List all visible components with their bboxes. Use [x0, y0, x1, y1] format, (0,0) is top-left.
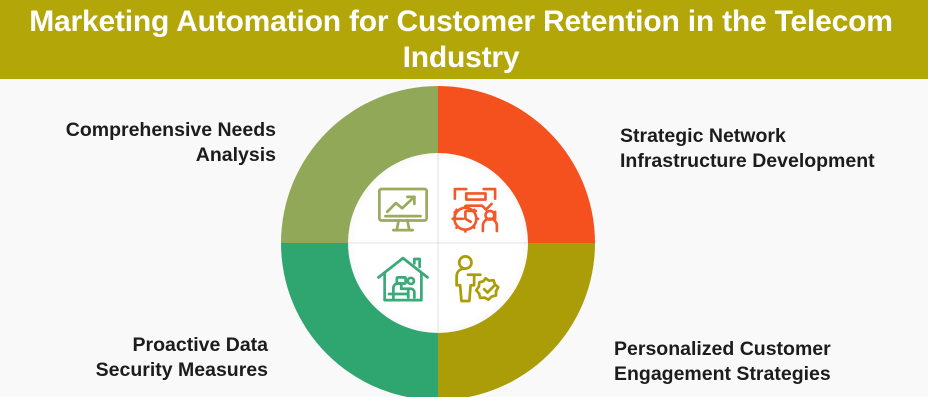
- page-title: Marketing Automation for Customer Retent…: [1, 4, 921, 75]
- house-pipes-icon: [367, 244, 439, 316]
- label-strategic-network-infrastructure-development: Strategic Network Infrastructure Develop…: [620, 124, 928, 175]
- label-proactive-data-security-measures: Proactive Data Security Measures: [8, 333, 268, 384]
- label-personalized-customer-engagement-strategies: Personalized Customer Engagement Strateg…: [614, 337, 928, 388]
- person-pointing-badge-check-icon: [439, 244, 511, 316]
- presentation-gear-clock-person-icon: [439, 174, 511, 246]
- label-comprehensive-needs-analysis: Comprehensive Needs Analysis: [8, 118, 276, 169]
- monitor-growth-chart-icon: [367, 174, 439, 246]
- bottom-strip: [0, 397, 928, 404]
- infographic-canvas: Marketing Automation for Customer Retent…: [0, 0, 928, 404]
- title-banner: Marketing Automation for Customer Retent…: [0, 0, 928, 79]
- donut-chart: [281, 86, 595, 400]
